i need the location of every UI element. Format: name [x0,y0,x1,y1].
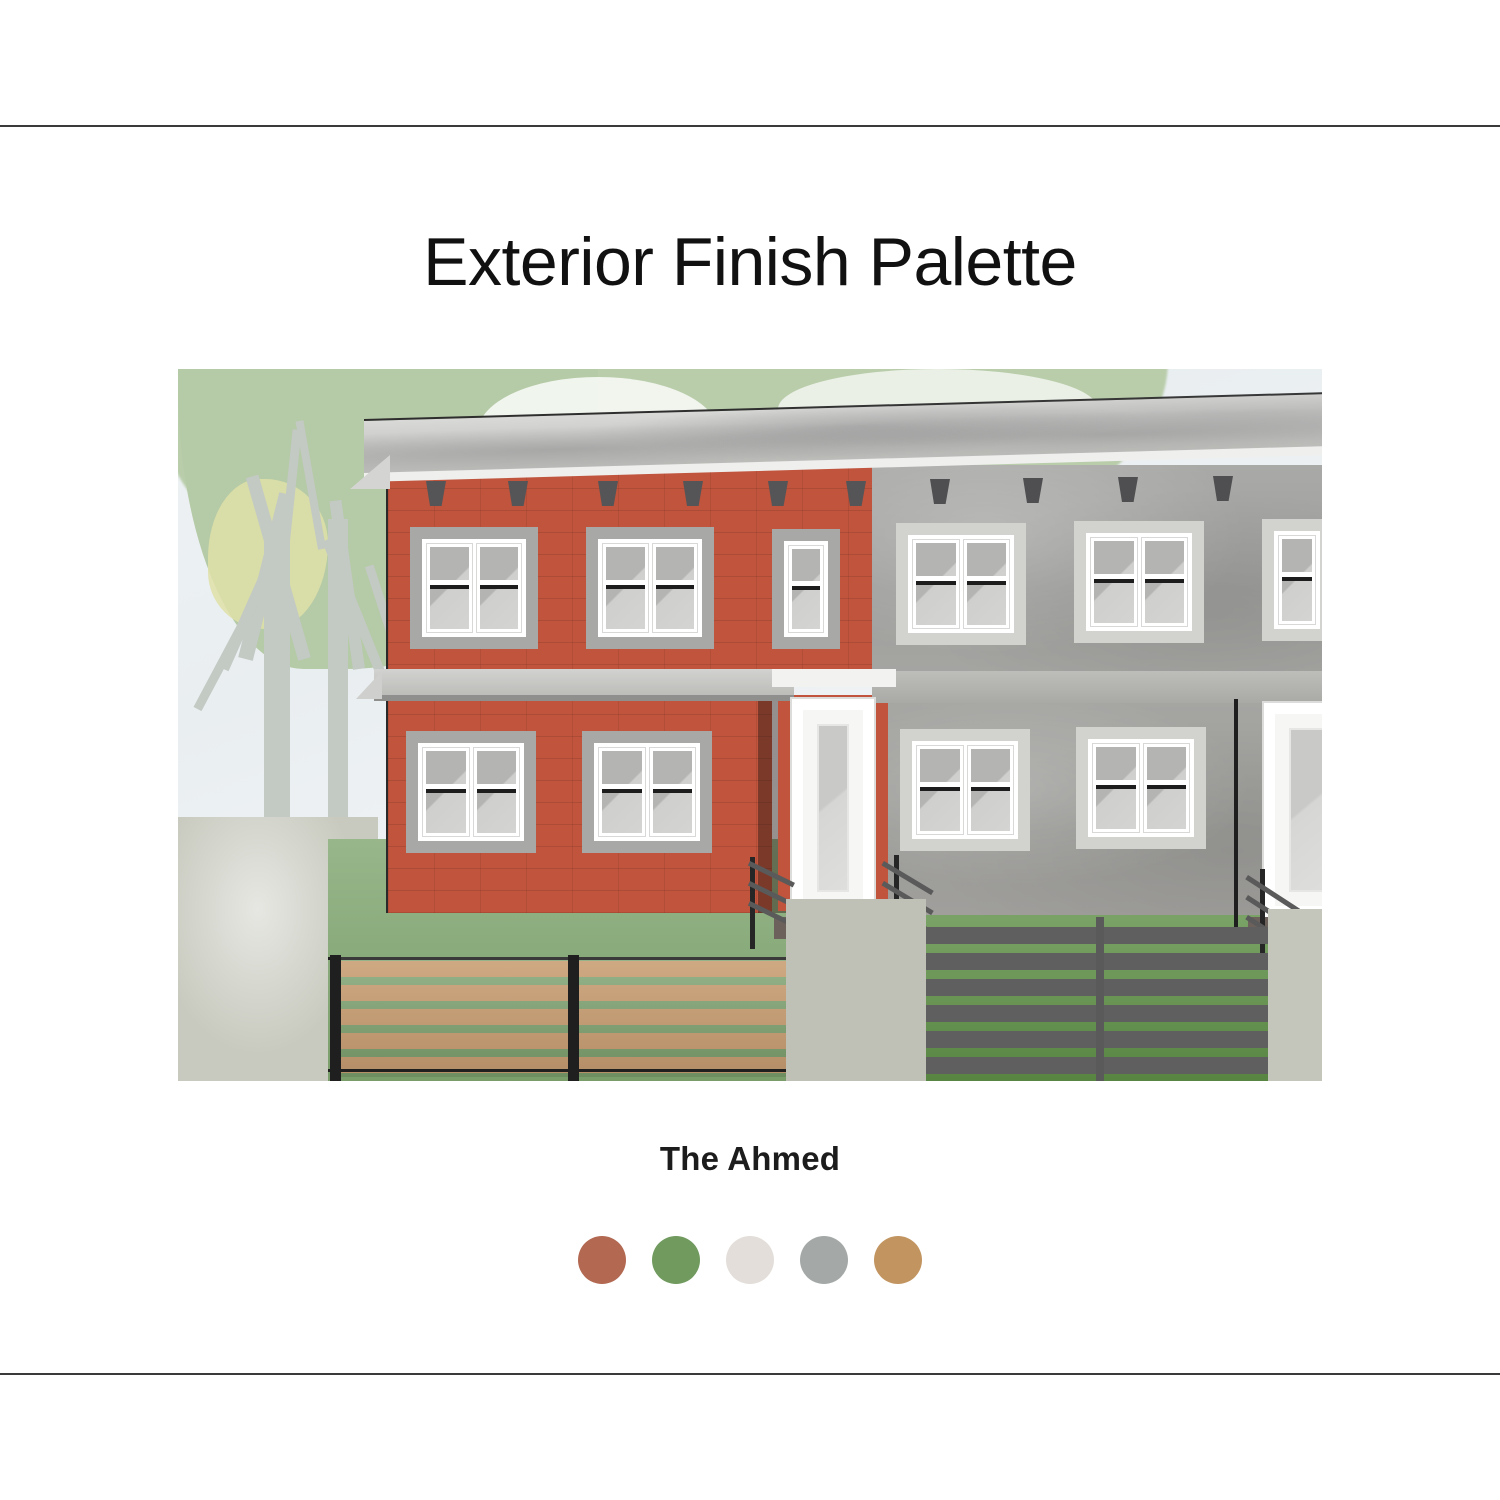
window-glazing [418,743,524,841]
window-lower-right-1[interactable] [900,729,1030,851]
window-sash [474,748,520,836]
window-sash [1144,744,1190,832]
window-sash [968,746,1014,834]
mid-level-roof-edge [374,695,794,701]
side-walkway [1268,909,1322,1081]
swatch-terracotta-brick[interactable] [578,1236,626,1284]
window-sash [1279,536,1315,624]
window-lower-left-2[interactable] [582,731,712,853]
window-sash [423,748,469,836]
window-glazing [908,535,1014,633]
window-upper-left-3[interactable] [772,529,840,649]
window-upper-right-1[interactable] [896,523,1026,645]
window-sash [650,748,696,836]
fence-post [1096,917,1104,1081]
swatch-warm-white[interactable] [726,1236,774,1284]
window-glazing [912,741,1018,839]
window-sash [603,544,648,632]
window-sash [789,546,823,632]
plan-name: The Ahmed [0,1140,1500,1178]
window-sash [1093,744,1139,832]
exterior-finish-palette-page: Exterior Finish Palette [0,0,1500,1500]
window-glazing [784,541,828,637]
fence-post [330,955,341,1081]
window-glazing [594,743,700,841]
color-swatch-row [0,1236,1500,1284]
door-panel [1275,714,1322,906]
window-upper-right-2[interactable] [1074,521,1204,643]
fence-post [568,955,579,1081]
divider-bottom [0,1373,1500,1375]
window-lower-right-2[interactable] [1076,727,1206,849]
front-walkway [786,899,926,1081]
window-glazing [1088,739,1194,837]
townhouse-elevation-illustration [178,369,1322,1081]
window-sash [477,544,522,632]
window-glazing [1086,533,1192,631]
window-glazing [598,539,702,637]
divider-top [0,125,1500,127]
window-upper-left-2[interactable] [586,527,714,649]
swatch-stucco-gray[interactable] [800,1236,848,1284]
window-upper-left-1[interactable] [410,527,538,649]
window-sash [427,544,472,632]
page-title: Exterior Finish Palette [0,228,1500,296]
window-glazing [422,539,526,637]
window-glazing [1274,531,1320,629]
window-lower-left-1[interactable] [406,731,536,853]
swatch-camel-tan[interactable] [874,1236,922,1284]
window-sash [917,746,963,834]
window-sash [913,540,959,628]
tree-trunk-secondary [328,519,348,839]
door-panel [803,710,863,906]
door-glass-lite [817,724,849,892]
party-wall-edge [1234,699,1238,939]
tree-trunk [264,539,290,839]
fence-bottom-rail [328,1069,818,1072]
entry-door-right-unit[interactable] [1264,703,1322,917]
window-sash [653,544,698,632]
window-sash [964,540,1010,628]
entry-canopy [772,669,896,687]
window-sash [599,748,645,836]
swatch-sage-green[interactable] [652,1236,700,1284]
entry-door-left-unit[interactable] [792,699,874,917]
window-sash [1142,538,1188,626]
door-glass-lite [1289,728,1322,892]
window-upper-right-3[interactable] [1262,519,1322,641]
window-sash [1091,538,1137,626]
mid-level-band-right [872,671,1322,703]
